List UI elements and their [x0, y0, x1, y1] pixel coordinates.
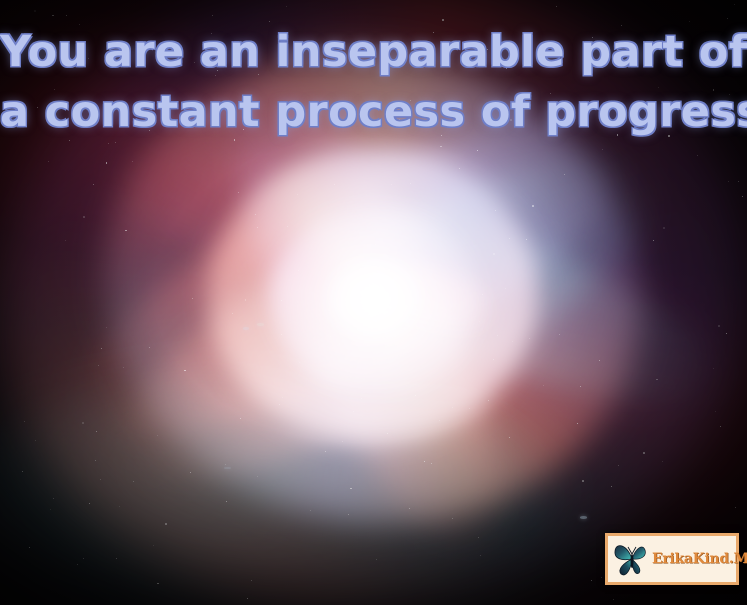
galaxy-core-glow	[270, 207, 480, 392]
butterfly-icon	[612, 539, 652, 579]
quote-line-1: You are an inseparable part of	[0, 22, 747, 82]
teal-nebula-haze	[0, 380, 560, 605]
quote-text: You are an inseparable part of a constan…	[0, 22, 747, 142]
quote-line-2: a constant process of progress.	[0, 82, 747, 142]
watermark-badge[interactable]: ErikaKind.Me	[605, 533, 739, 585]
quote-image-canvas: You are an inseparable part of a constan…	[0, 0, 747, 605]
galaxy-core-hotspot	[328, 259, 420, 339]
galaxy-core-red-streak	[345, 247, 504, 343]
watermark-label: ErikaKind.Me	[652, 551, 747, 567]
